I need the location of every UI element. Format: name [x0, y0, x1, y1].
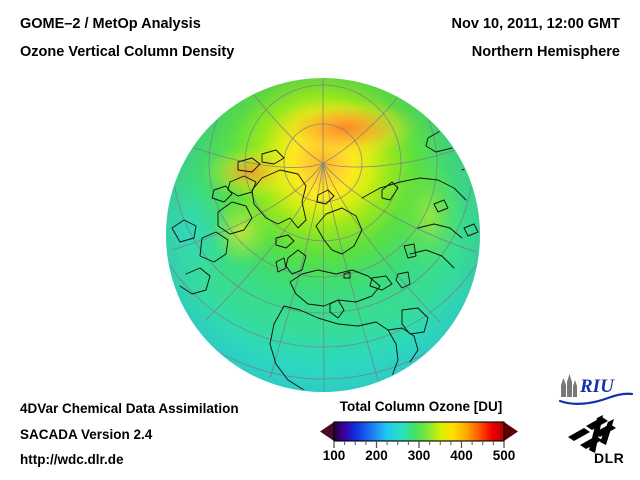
header-title-line2: Ozone Vertical Column Density	[20, 44, 234, 60]
dlr-logo-icon	[566, 415, 628, 455]
dlr-wordmark: DLR	[594, 450, 624, 466]
colorbar-ticks	[334, 441, 504, 448]
header-title-line1: GOME–2 / MetOp Analysis	[20, 16, 201, 32]
header-timestamp: Nov 10, 2011, 12:00 GMT	[452, 16, 620, 32]
riu-wordmark: RIU	[579, 376, 615, 397]
footer-url: http://wdc.dlr.de	[20, 452, 124, 467]
colorbar-cap-low	[320, 422, 334, 441]
colorbar-title: Total Column Ozone [DU]	[318, 399, 524, 414]
colorbar-tick-label: 500	[493, 448, 516, 463]
colorbar-graphic	[305, 418, 533, 448]
colorbar-body	[334, 422, 504, 441]
colorbar-tick-label: 200	[365, 448, 388, 463]
map-overlay	[166, 78, 480, 392]
colorbar-tick-label: 400	[450, 448, 473, 463]
colorbar-tick-labels: 100200300400500	[305, 448, 533, 468]
footer-version: SACADA Version 2.4	[20, 427, 152, 442]
globe-disc	[166, 78, 480, 392]
riu-towers-icon	[561, 374, 577, 397]
ozone-globe-map	[166, 78, 480, 392]
colorbar: 100200300400500	[305, 418, 533, 470]
colorbar-cap-high	[504, 422, 518, 441]
footer-method: 4DVar Chemical Data Assimilation	[20, 401, 239, 416]
colorbar-tick-label: 100	[323, 448, 346, 463]
coastlines	[172, 130, 480, 390]
riu-logo: RIU	[558, 373, 636, 407]
header-region: Northern Hemisphere	[472, 44, 620, 60]
colorbar-tick-label: 300	[408, 448, 431, 463]
